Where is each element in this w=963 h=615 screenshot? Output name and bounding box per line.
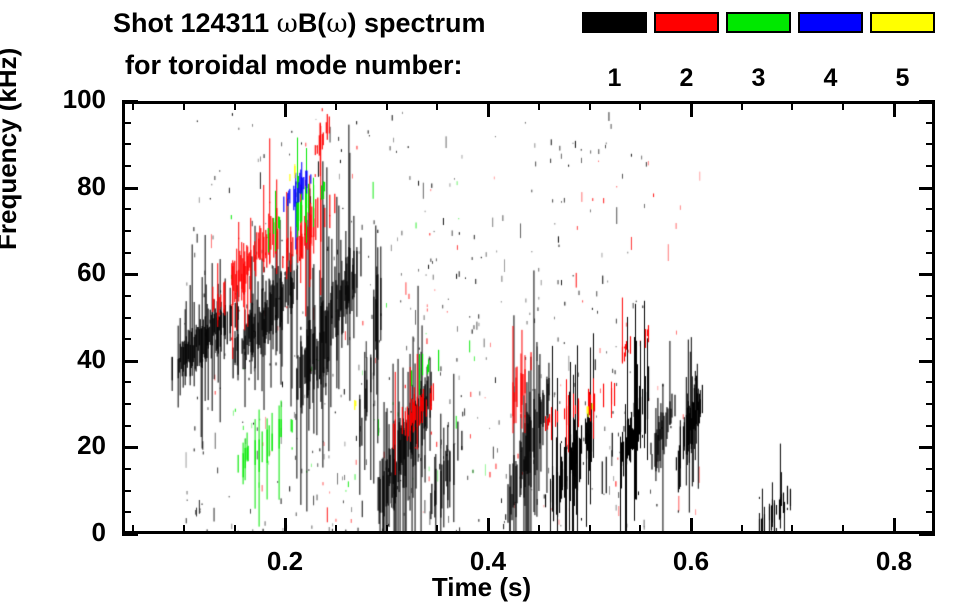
x-major-tick-top	[893, 101, 896, 117]
y-minor-tick-right	[926, 468, 935, 470]
x-minor-tick-top	[234, 101, 236, 110]
y-minor-tick-right	[926, 511, 935, 513]
y-minor-tick	[122, 208, 131, 210]
y-minor-tick-right	[926, 230, 935, 232]
y-tick-label: 20	[46, 430, 106, 461]
x-minor-tick	[436, 525, 438, 534]
plot-frame	[122, 101, 935, 534]
x-minor-tick	[741, 525, 743, 534]
y-major-tick-right	[919, 273, 935, 276]
x-minor-tick	[791, 525, 793, 534]
x-minor-tick	[842, 525, 844, 534]
x-minor-tick-top	[589, 101, 591, 110]
omega-symbol-2: ω	[326, 9, 347, 39]
y-minor-tick	[122, 338, 131, 340]
x-minor-tick-top	[842, 101, 844, 110]
x-minor-tick	[639, 525, 641, 534]
title-spectrum-text: ) spectrum	[348, 8, 486, 38]
x-minor-tick-top	[183, 101, 185, 110]
y-minor-tick	[122, 317, 131, 319]
spectrogram-canvas	[125, 104, 932, 531]
y-minor-tick	[122, 252, 131, 254]
y-minor-tick-right	[926, 208, 935, 210]
y-major-tick-right	[919, 360, 935, 363]
x-major-tick	[487, 518, 490, 534]
figure-root: Shot 124311 ωB(ω) spectrum for toroidal …	[0, 0, 963, 615]
figure-title-line1: Shot 124311 ωB(ω) spectrum	[113, 8, 486, 39]
y-major-tick	[122, 533, 138, 536]
y-minor-tick-right	[926, 425, 935, 427]
y-minor-tick-right	[926, 122, 935, 124]
legend-label-4: 4	[798, 64, 863, 93]
x-minor-tick-top	[436, 101, 438, 110]
x-minor-tick-top	[335, 101, 337, 110]
x-tick-label: 0.8	[854, 546, 934, 577]
y-minor-tick-right	[926, 295, 935, 297]
omega-symbol-1: ω	[277, 9, 298, 39]
x-minor-tick	[589, 525, 591, 534]
legend-label-1: 1	[582, 64, 647, 93]
legend-label-2: 2	[654, 64, 719, 93]
x-tick-label: 0.2	[245, 546, 325, 577]
y-major-tick-right	[919, 446, 935, 449]
x-minor-tick-top	[386, 101, 388, 110]
x-minor-tick-top	[538, 101, 540, 110]
x-tick-label: 0.6	[651, 546, 731, 577]
y-minor-tick	[122, 122, 131, 124]
y-major-tick	[122, 273, 138, 276]
x-major-tick-top	[690, 101, 693, 117]
y-tick-label: 60	[46, 257, 106, 288]
figure-title-line2: for toroidal mode number:	[125, 50, 463, 81]
x-major-tick	[893, 518, 896, 534]
x-minor-tick	[183, 525, 185, 534]
x-minor-tick	[335, 525, 337, 534]
x-major-tick-top	[284, 101, 287, 117]
x-major-tick	[690, 518, 693, 534]
y-minor-tick	[122, 295, 131, 297]
y-major-tick	[122, 100, 138, 103]
y-minor-tick	[122, 143, 131, 145]
legend-swatch-4	[798, 12, 863, 33]
y-major-tick	[122, 187, 138, 190]
y-minor-tick-right	[926, 338, 935, 340]
y-minor-tick	[122, 403, 131, 405]
y-minor-tick	[122, 165, 131, 167]
legend-label-5: 5	[870, 64, 935, 93]
x-minor-tick-top	[741, 101, 743, 110]
x-minor-tick	[386, 525, 388, 534]
y-minor-tick	[122, 425, 131, 427]
y-minor-tick-right	[926, 165, 935, 167]
title-b-text: B(	[298, 8, 327, 38]
y-major-tick	[122, 360, 138, 363]
x-minor-tick	[132, 525, 134, 534]
title-shot-text: Shot 124311	[113, 8, 277, 38]
x-minor-tick-top	[791, 101, 793, 110]
y-tick-label: 0	[46, 517, 106, 548]
y-minor-tick-right	[926, 252, 935, 254]
y-minor-tick-right	[926, 143, 935, 145]
y-axis-label: Frequency (kHz)	[0, 48, 23, 250]
legend-label-3: 3	[726, 64, 791, 93]
x-major-tick	[284, 518, 287, 534]
y-minor-tick	[122, 381, 131, 383]
legend-swatch-3	[726, 12, 791, 33]
y-minor-tick-right	[926, 490, 935, 492]
y-minor-tick-right	[926, 403, 935, 405]
y-major-tick	[122, 446, 138, 449]
legend-swatch-1	[582, 12, 647, 33]
y-major-tick-right	[919, 533, 935, 536]
legend: 12345	[582, 12, 932, 87]
y-minor-tick	[122, 230, 131, 232]
y-tick-label: 40	[46, 344, 106, 375]
x-major-tick-top	[487, 101, 490, 117]
y-minor-tick	[122, 511, 131, 513]
y-minor-tick-right	[926, 381, 935, 383]
y-tick-label: 80	[46, 171, 106, 202]
y-major-tick-right	[919, 100, 935, 103]
y-minor-tick	[122, 468, 131, 470]
x-minor-tick	[538, 525, 540, 534]
legend-swatch-2	[654, 12, 719, 33]
x-minor-tick-top	[639, 101, 641, 110]
x-tick-label: 0.4	[448, 546, 528, 577]
y-major-tick-right	[919, 187, 935, 190]
y-minor-tick-right	[926, 317, 935, 319]
y-tick-label: 100	[46, 84, 106, 115]
x-minor-tick-top	[132, 101, 134, 110]
x-minor-tick	[234, 525, 236, 534]
y-minor-tick	[122, 490, 131, 492]
legend-swatch-5	[870, 12, 935, 33]
